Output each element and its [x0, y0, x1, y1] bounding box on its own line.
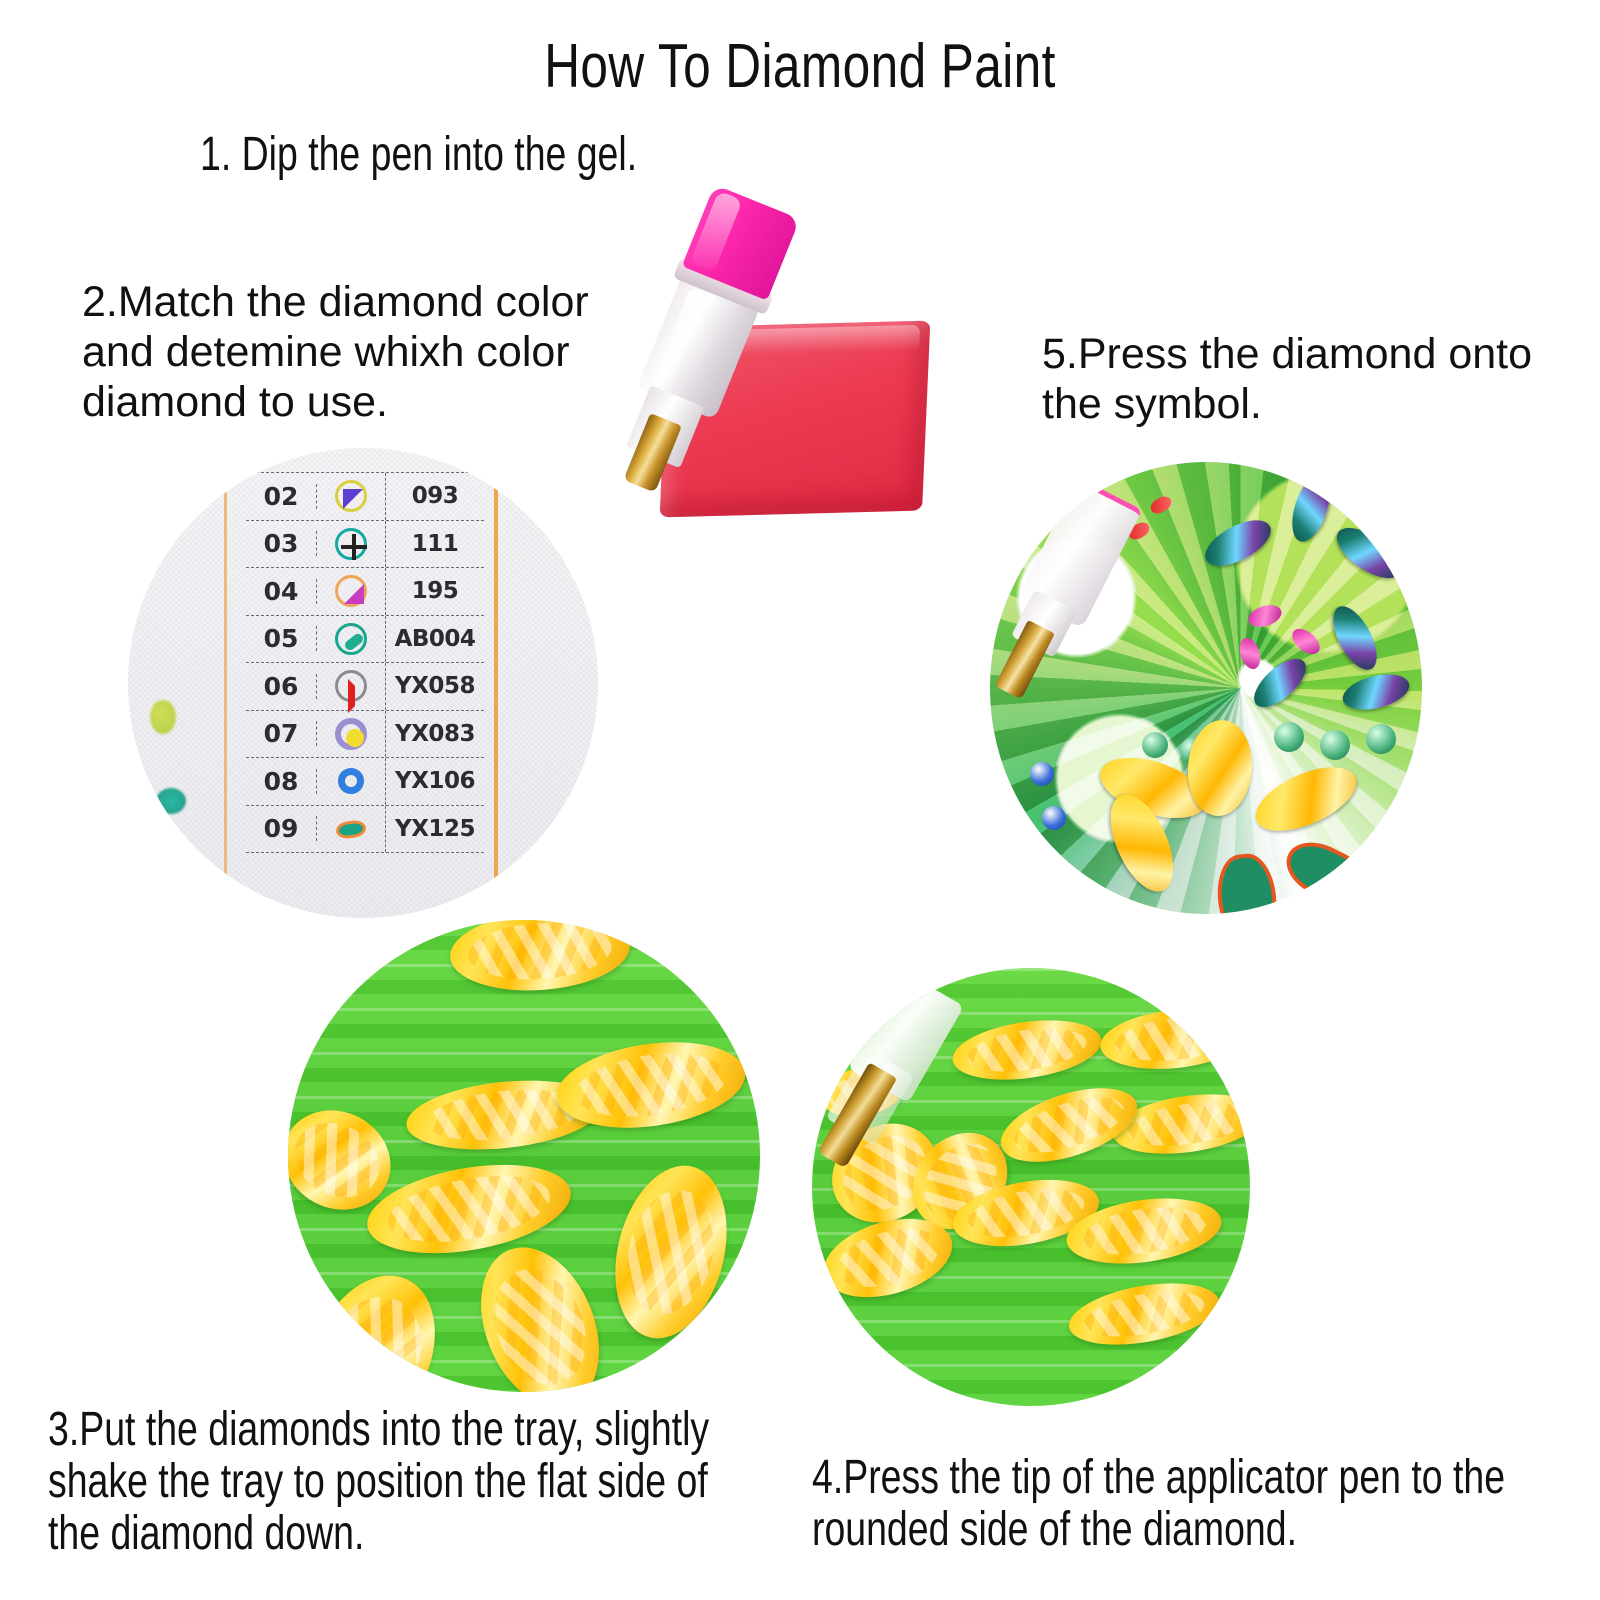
legend-chart-photo: 02 093 03 111 04 195 05 AB004	[128, 448, 598, 918]
row-number: 04	[246, 579, 317, 604]
open-circle-icon	[335, 765, 367, 797]
row-symbol-cell	[317, 568, 386, 615]
row-code: 093	[386, 483, 484, 509]
row-code: AB004	[386, 626, 484, 652]
canvas-print-blob	[150, 700, 176, 734]
gem-round	[1366, 724, 1396, 754]
diamond-tray-photo	[288, 920, 760, 1392]
pen-gel-photo	[586, 196, 968, 540]
row-number: 08	[246, 769, 317, 794]
step-1-text: 1. Dip the pen into the gel.	[200, 128, 637, 182]
row-number: 03	[246, 531, 317, 556]
step-5-text: 5.Press the diamond onto the symbol.	[1042, 330, 1542, 430]
table-row: 08 YX106	[246, 758, 484, 806]
legend-table: 02 093 03 111 04 195 05 AB004	[246, 472, 484, 853]
row-symbol-cell	[317, 663, 386, 710]
row-number: 02	[246, 484, 317, 509]
row-code: YX083	[386, 721, 484, 747]
table-row: 03 111	[246, 521, 484, 569]
triangle-lower-right-icon	[335, 575, 367, 607]
table-row: 09 YX125	[246, 806, 484, 854]
gem-blue	[1042, 806, 1066, 830]
row-code: YX106	[386, 768, 484, 794]
row-code: 111	[386, 531, 484, 557]
step-4-text: 4.Press the tip of the applicator pen to…	[812, 1452, 1592, 1556]
row-symbol-cell	[317, 711, 386, 758]
page-title: How To Diamond Paint	[160, 34, 1440, 99]
row-symbol-cell	[317, 806, 386, 853]
table-row: 05 AB004	[246, 616, 484, 664]
filled-dot-icon	[335, 718, 367, 750]
table-row: 02 093	[246, 472, 484, 521]
pen-tip	[994, 620, 1054, 700]
gem-round	[1320, 730, 1350, 760]
gem-round	[1274, 722, 1304, 752]
table-row: 04 195	[246, 568, 484, 616]
row-symbol-cell	[317, 758, 386, 805]
row-symbol-cell	[317, 616, 386, 663]
row-number: 06	[246, 674, 317, 699]
row-symbol-cell	[317, 521, 386, 568]
row-code: YX125	[386, 816, 484, 842]
triangle-upper-left-icon	[335, 480, 367, 512]
capsule-icon	[335, 623, 367, 655]
plus-icon	[335, 528, 367, 560]
tray-with-pen-photo	[812, 968, 1250, 1406]
row-number: 07	[246, 721, 317, 746]
gem-blue	[1030, 762, 1054, 786]
table-row: 06 YX058	[246, 663, 484, 711]
row-code: YX058	[386, 673, 484, 699]
canvas-print-blob	[156, 788, 186, 814]
mosaic-canvas-photo	[990, 462, 1422, 914]
row-symbol-cell	[317, 473, 386, 520]
step-2-text: 2.Match the diamond color and detemine w…	[82, 278, 602, 428]
row-number: 09	[246, 816, 317, 841]
row-number: 05	[246, 626, 317, 651]
step-3-text: 3.Put the diamonds into the tray, slight…	[48, 1404, 750, 1559]
table-row: 07 YX083	[246, 711, 484, 759]
gem-round	[1142, 732, 1168, 758]
chevron-left-icon	[335, 670, 367, 702]
margin-stripe-left	[224, 448, 227, 918]
row-code: 195	[386, 578, 484, 604]
leaf-icon	[335, 813, 367, 845]
margin-stripe-right	[494, 448, 498, 918]
